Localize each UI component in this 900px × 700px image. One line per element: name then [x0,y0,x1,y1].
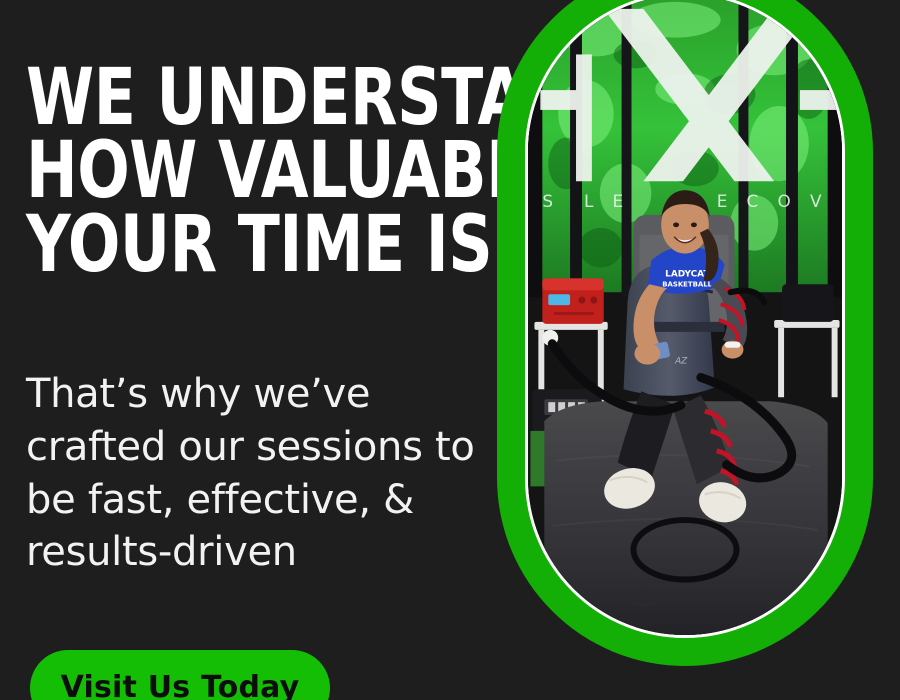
subcopy-line-3: be fast, effective, & [26,474,496,527]
page-title: WE UNDERSTAND HOW VALUABLE YOUR TIME IS [26,62,431,282]
subcopy-line-1: That’s why we’ve [26,368,496,421]
subcopy-line-4: results-driven [26,526,496,579]
svg-text:BASKETBALL: BASKETBALL [662,280,712,288]
subcopy-line-2: crafted our sessions to [26,421,496,474]
photo-inner-ring: S L E E C O V [525,0,845,638]
subheadline: That’s why we’ve crafted our sessions to… [26,368,496,579]
svg-text:L E: L E [584,191,630,211]
svg-text:S: S [542,191,560,211]
svg-text:AZ: AZ [674,357,688,367]
promo-canvas: WE UNDERSTAND HOW VALUABLE YOUR TIME IS … [0,0,900,700]
recovery-session-photo: S L E E C O V [528,0,842,635]
photo-frame: S L E E C O V [497,0,873,666]
text-column: WE UNDERSTAND HOW VALUABLE YOUR TIME IS … [0,0,490,700]
headline-line-3: YOUR TIME IS [26,209,431,282]
cta-label: Visit Us Today [61,670,300,700]
svg-text:E C O V: E C O V [717,191,829,211]
svg-text:LADYCAT: LADYCAT [665,269,710,279]
headline-line-1: WE UNDERSTAND [26,62,431,135]
headline-line-2: HOW VALUABLE [26,135,431,208]
visit-us-today-button[interactable]: Visit Us Today [30,650,330,700]
